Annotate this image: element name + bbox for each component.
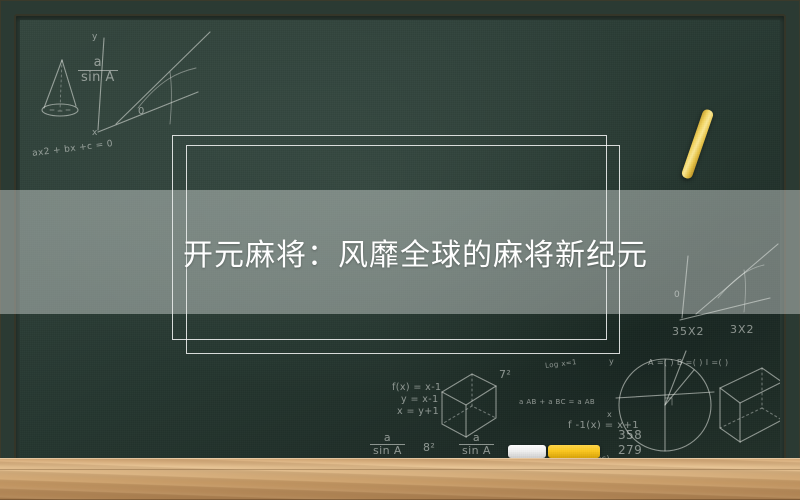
chalk-axis-label-y-right: y: [609, 357, 614, 366]
board-bottom-chalk-area: [20, 444, 780, 458]
chalk-line-equation: a AB + a BC = a AB: [519, 398, 595, 406]
chalk-fraction-a-sina-topleft: asin A: [78, 56, 118, 84]
white-chalk: [508, 445, 546, 458]
chalkboard-banner: asin A y x 0 ax2 + bx +c = 0 f(x) = x-1 …: [0, 0, 800, 500]
rail-groove-line: [0, 469, 800, 470]
yellow-chalk: [548, 445, 600, 458]
chalk-function-line-1: f(x) = x-1: [392, 382, 441, 395]
chalk-label-3x2: 3X2: [730, 323, 755, 336]
chalk-axis-label-y-topleft: y: [92, 32, 98, 42]
chalk-angle-label-topleft: 0: [138, 106, 145, 117]
chalk-function-line-2: y = x-1: [401, 394, 439, 405]
chalk-axis-label-x-right: x: [607, 410, 612, 419]
chalk-matrix-row: A =( ) B =( ) I =( ): [648, 358, 729, 367]
chalk-label-35x2: 35X2: [672, 325, 705, 338]
chalk-axis-label-x-topleft: x: [92, 128, 98, 138]
chalk-ledge-rail: [0, 458, 800, 500]
page-title: 开元麻将：风靡全球的麻将新纪元: [0, 190, 800, 314]
chalk-addition-addend-1: 358: [618, 428, 642, 443]
chalk-function-line-3: x = y+1: [397, 406, 439, 417]
chalk-seven-squared: 7²: [499, 368, 511, 381]
